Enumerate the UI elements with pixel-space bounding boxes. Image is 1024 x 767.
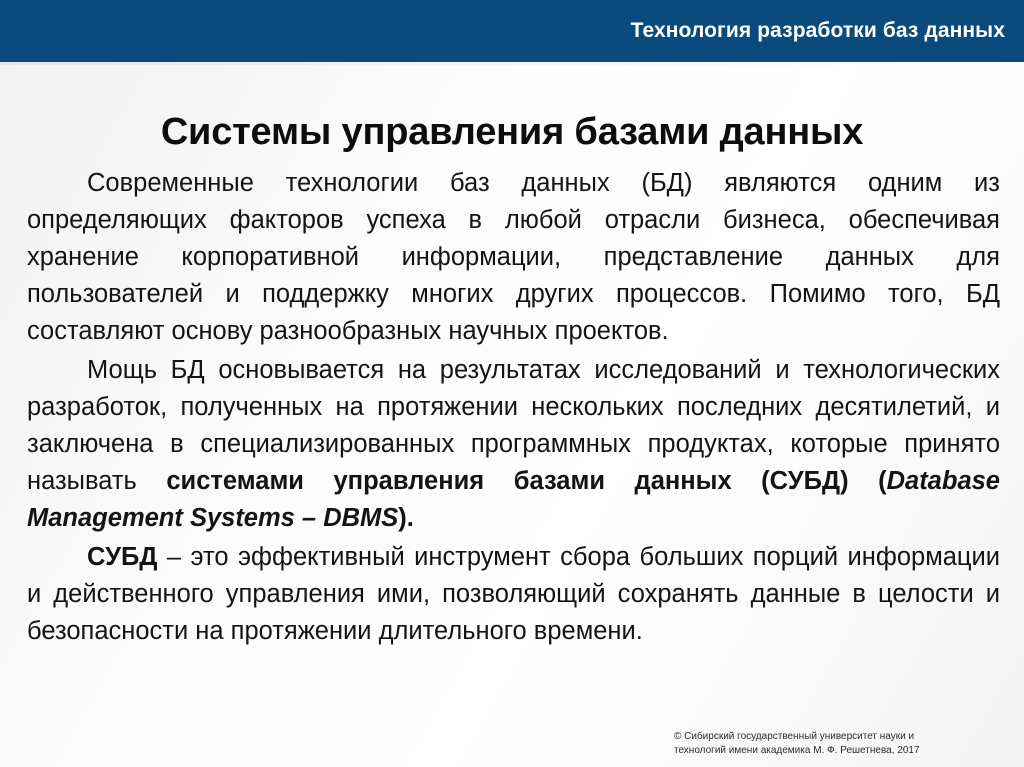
copyright-footer: © Сибирский государственный университет …	[674, 730, 1004, 758]
slide-body: Современные технологии баз данных (БД) я…	[27, 165, 1000, 650]
paragraph-2-bold-tail: ).	[398, 504, 414, 532]
paragraph-3-text: – это эффективный инструмент сбора больш…	[27, 543, 1000, 645]
banner-underline	[0, 62, 1024, 65]
copyright-line-1: © Сибирский государственный университет …	[674, 730, 1004, 744]
paragraph-3-bold-term: СУБД	[87, 543, 157, 571]
slide-header-banner: Технология разработки баз данных	[0, 0, 1024, 62]
page-title: Системы управления базами данных	[0, 111, 1024, 154]
paragraph-2-bold-term: системами управления базами данных (СУБД…	[166, 467, 886, 495]
course-title: Технология разработки баз данных	[631, 19, 1005, 43]
paragraph-1-text: Современные технологии баз данных (БД) я…	[27, 169, 1000, 345]
copyright-line-2: технологий имени академика М. Ф. Решетне…	[674, 744, 1004, 758]
paragraph-3: СУБД – это эффективный инструмент сбора …	[27, 539, 1000, 650]
paragraph-1: Современные технологии баз данных (БД) я…	[27, 165, 1000, 350]
paragraph-2: Мощь БД основывается на результатах иссл…	[27, 352, 1000, 537]
slide-canvas: Технология разработки баз данных Системы…	[0, 0, 1024, 767]
